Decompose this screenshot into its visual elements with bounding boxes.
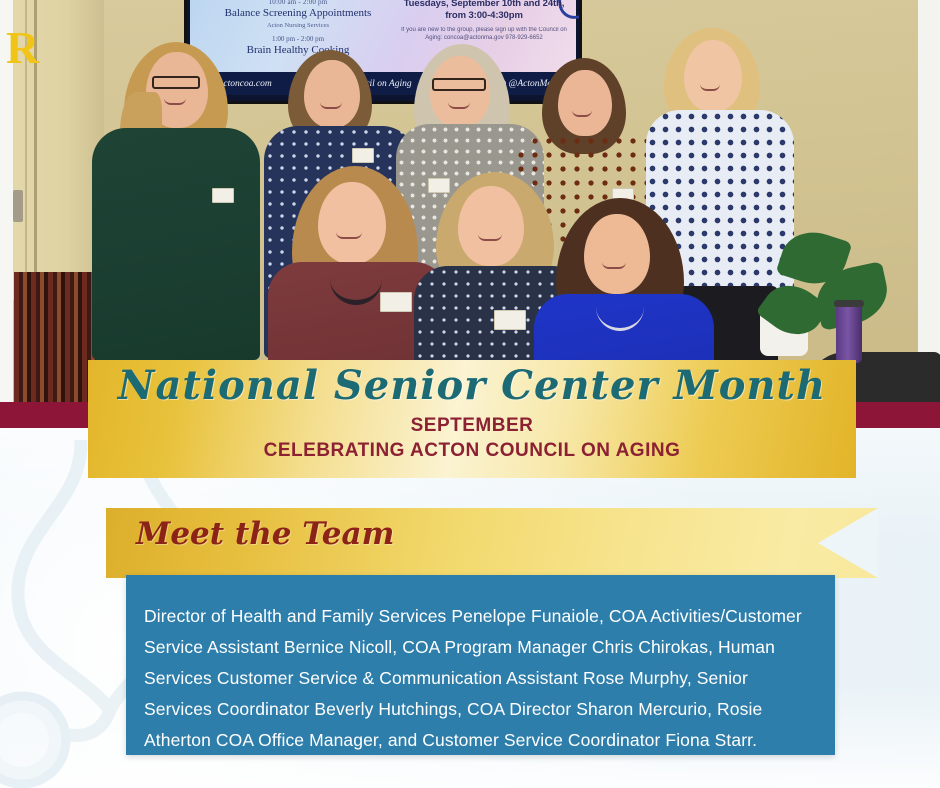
tv-screen: 10:00 am - 2:00 pm Balance Screening App… bbox=[184, 0, 582, 104]
banner-title: National Senior Center Month bbox=[88, 362, 856, 409]
tv-time-2: 1:00 pm - 2:00 pm bbox=[198, 35, 398, 43]
tv-fine-print: If you are new to the group, please sign… bbox=[396, 26, 572, 42]
tv-title-2: Brain Healthy Cooking bbox=[198, 44, 398, 56]
banner-subtitle: CELEBRATING ACTON COUNCIL ON AGING bbox=[88, 438, 856, 463]
door-hinge-icon bbox=[13, 190, 23, 222]
corner-logo-letter: R bbox=[6, 28, 39, 68]
tv-footer-bar: www.actoncoa.com Council on Aging @Acton… bbox=[190, 72, 576, 95]
banner-month: SEPTEMBER bbox=[88, 413, 856, 438]
tv-slide-right-panel: Tuesdays, September 10th and 24th, from … bbox=[396, 0, 572, 42]
meet-the-team-ribbon: Meet the Team bbox=[106, 508, 878, 578]
tumbler-lid bbox=[834, 300, 864, 307]
meet-the-team-heading: Meet the Team bbox=[136, 516, 394, 552]
ribbon-body: National Senior Center Month SEPTEMBER C… bbox=[88, 360, 856, 478]
poster-canvas: R 10:00 am - 2:00 pm Balance Screening A… bbox=[0, 0, 940, 788]
ribbon-notch bbox=[818, 508, 878, 578]
tv-title-1: Balance Screening Appointments bbox=[198, 7, 398, 19]
team-description-panel: Director of Health and Family Services P… bbox=[126, 575, 835, 755]
tv-time-1: 10:00 am - 2:00 pm bbox=[198, 0, 398, 6]
main-banner: National Senior Center Month SEPTEMBER C… bbox=[0, 352, 940, 484]
tv-slide-left-panel: 10:00 am - 2:00 pm Balance Screening App… bbox=[198, 0, 398, 56]
tv-headline: Tuesdays, September 10th and 24th, from … bbox=[396, 0, 572, 22]
tv-subtitle-1: Acton Nursing Services bbox=[198, 22, 398, 29]
tv-slide: 10:00 am - 2:00 pm Balance Screening App… bbox=[190, 0, 576, 72]
team-description-text: Director of Health and Family Services P… bbox=[126, 575, 835, 756]
